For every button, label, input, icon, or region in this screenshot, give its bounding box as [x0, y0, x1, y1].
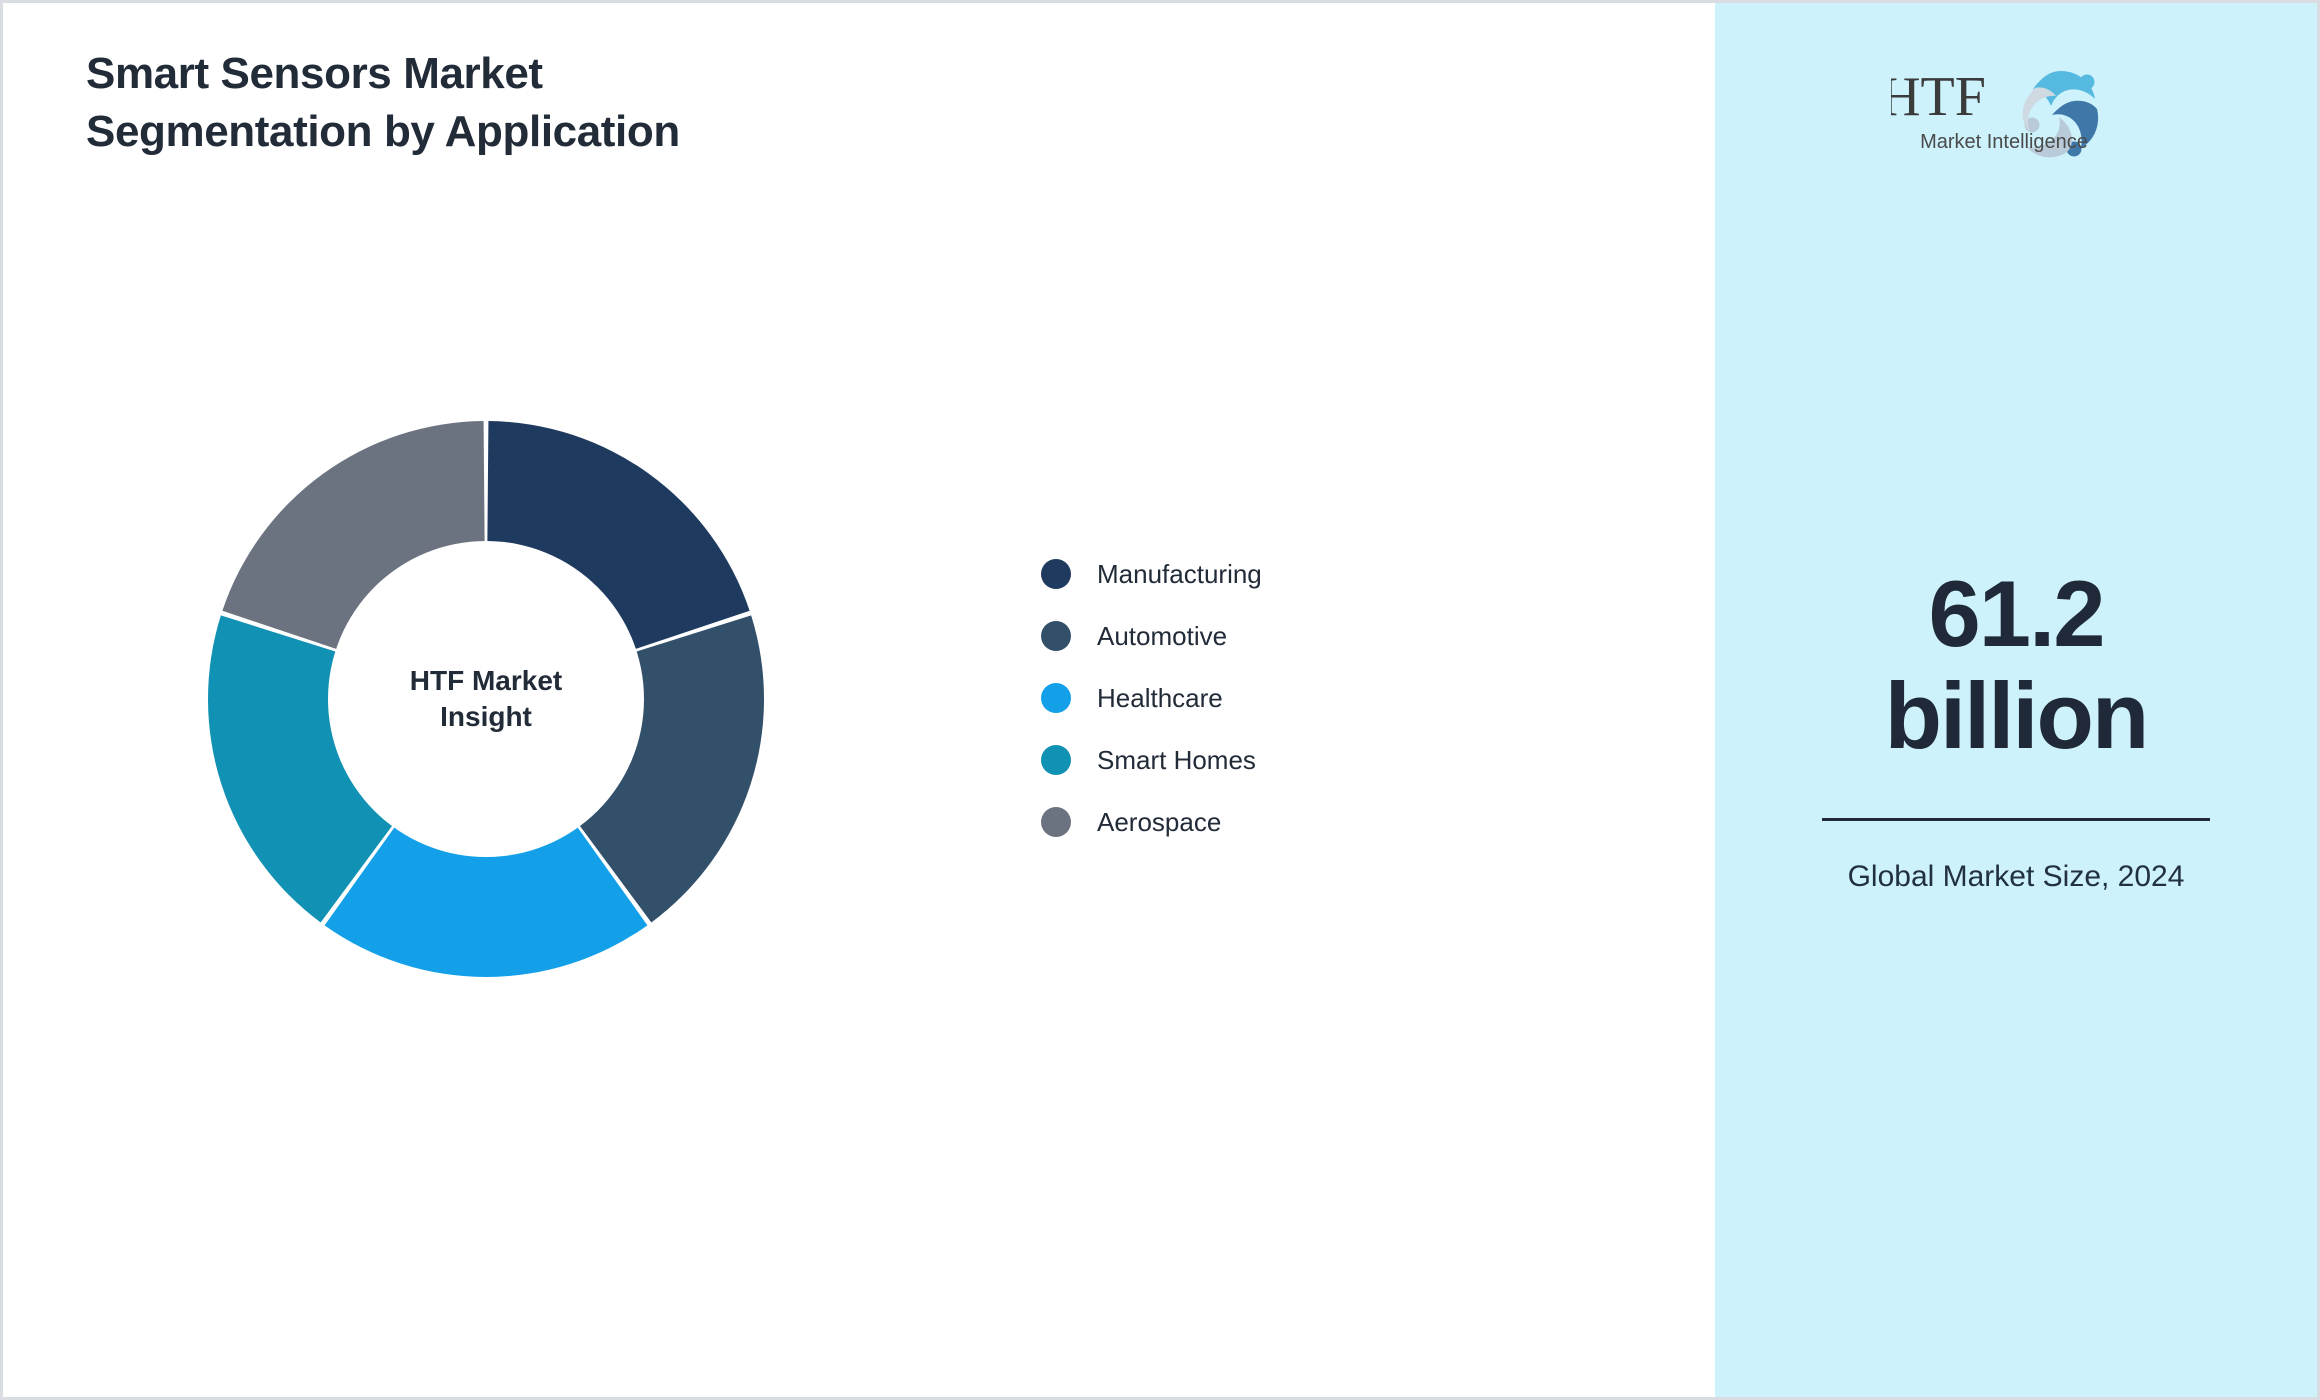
left-panel: Smart Sensors Market Segmentation by App… — [3, 3, 1715, 1397]
legend-swatch-icon — [1041, 621, 1071, 651]
stat-caption: Global Market Size, 2024 — [1836, 857, 2196, 898]
legend-item[interactable]: Manufacturing — [1041, 558, 1262, 590]
right-panel: HTF Market Intelligence 61.2 billion Glo… — [1715, 3, 2317, 1397]
legend-item-label: Aerospace — [1097, 809, 1221, 835]
legend-swatch-icon — [1041, 745, 1071, 775]
legend-item[interactable]: Automotive — [1041, 620, 1262, 652]
legend-item[interactable]: Aerospace — [1041, 806, 1262, 838]
legend-swatch-icon — [1041, 683, 1071, 713]
infographic-root: Smart Sensors Market Segmentation by App… — [0, 0, 2320, 1400]
stat-value: 61.2 billion — [1806, 563, 2226, 766]
legend-item[interactable]: Smart Homes — [1041, 744, 1262, 776]
legend-item-label: Manufacturing — [1097, 561, 1262, 587]
legend-item-label: Automotive — [1097, 623, 1227, 649]
donut-chart: HTF Market Insight — [208, 421, 764, 977]
legend-item-label: Healthcare — [1097, 685, 1223, 711]
legend-swatch-icon — [1041, 807, 1071, 837]
stat-block: 61.2 billion Global Market Size, 2024 — [1715, 563, 2317, 898]
donut-chart-svg — [208, 421, 764, 977]
legend-item-label: Smart Homes — [1097, 747, 1256, 773]
chart-legend: ManufacturingAutomotiveHealthcareSmart H… — [1041, 558, 1262, 838]
logo-tagline: Market Intelligence — [1920, 131, 2088, 153]
page-title: Smart Sensors Market Segmentation by App… — [86, 45, 1086, 161]
logo-wordmark: HTF — [1891, 66, 1986, 128]
stat-divider — [1822, 818, 2210, 821]
legend-item[interactable]: Healthcare — [1041, 682, 1262, 714]
donut-hole — [328, 541, 644, 857]
logo-svg: HTF Market Intelligence — [1891, 53, 2141, 163]
legend-swatch-icon — [1041, 559, 1071, 589]
htf-market-intelligence-logo: HTF Market Intelligence — [1891, 53, 2141, 163]
